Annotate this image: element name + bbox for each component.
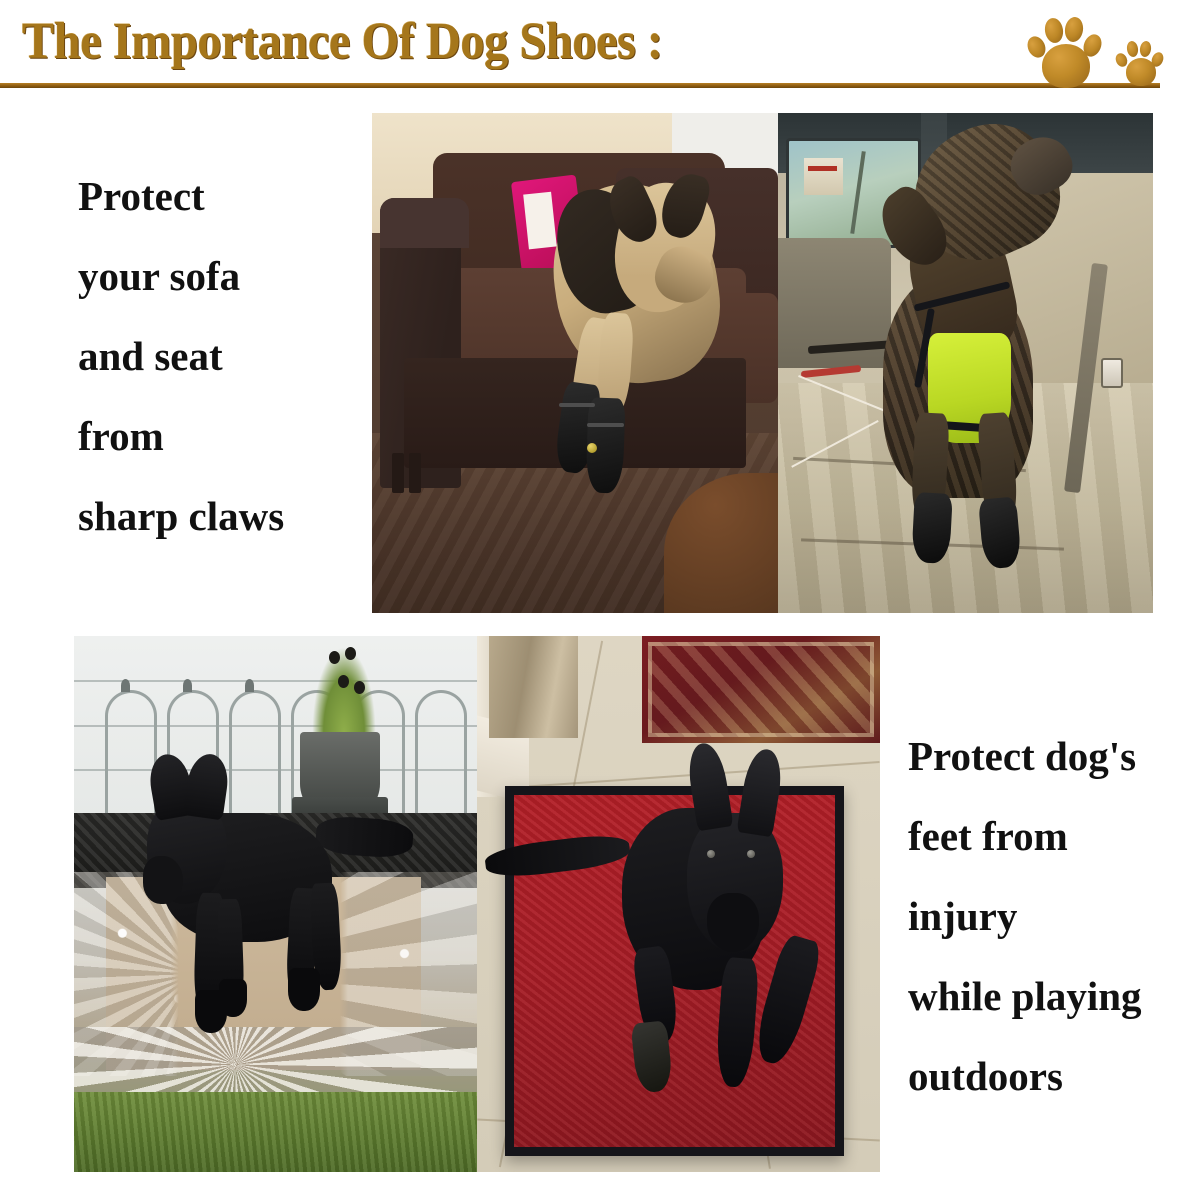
paw-toe [1043, 17, 1065, 45]
protect-feet-caption: Protect dog's feet from injury while pla… [908, 716, 1142, 1116]
paw-print-small-icon [1116, 40, 1166, 86]
paw-toe [1063, 16, 1084, 43]
paw-print-large-icon [1026, 16, 1106, 88]
caption-line: from [78, 396, 284, 476]
dog-boot [219, 979, 247, 1017]
caption-line: outdoors [908, 1036, 1142, 1116]
paw-toe [1126, 40, 1139, 58]
photo-dog-on-sofa [372, 113, 778, 613]
window-sign [804, 158, 843, 195]
boot-strap [587, 423, 624, 427]
garden-fence [82, 690, 469, 829]
caption-line: feet from [908, 796, 1142, 876]
poster-canvas: The Importance Of Dog Shoes : Protect yo… [0, 0, 1200, 1200]
caption-line: Protect [78, 156, 284, 236]
fence-arch [105, 690, 157, 829]
pillow-tag [523, 192, 557, 250]
sofa-leg [409, 453, 421, 493]
paw-pad [1126, 58, 1156, 86]
photo-dog-on-red-mat [477, 636, 880, 1172]
fence-arch [415, 690, 467, 829]
caption-line: your sofa [78, 236, 284, 316]
boot-strap [559, 403, 596, 407]
dog-snout [143, 856, 183, 904]
grass-lawn [74, 1092, 477, 1172]
fence-arch [229, 690, 281, 829]
page-title: The Importance Of Dog Shoes : [22, 14, 663, 70]
fence-spike [183, 679, 192, 692]
paw-prints-group [1020, 12, 1180, 84]
fence-spike [245, 679, 254, 692]
caption-line: injury [908, 876, 1142, 956]
siding-line [74, 680, 477, 682]
photo-dog-in-car [778, 113, 1153, 613]
bottom-photo-group [74, 636, 880, 1172]
oriental-rug [642, 636, 880, 743]
protect-sofa-caption: Protect your sofa and seat from sharp cl… [78, 156, 284, 556]
sofa-leg [392, 453, 404, 493]
dog-boot [288, 968, 320, 1011]
paw-toe [1139, 40, 1152, 58]
top-photo-group [372, 113, 1153, 613]
plant-flower [338, 675, 349, 688]
caption-line: while playing [908, 956, 1142, 1036]
caption-line: Protect dog's [908, 716, 1142, 796]
caption-line: and seat [78, 316, 284, 396]
fence-spike [121, 679, 130, 692]
curtain [489, 636, 578, 738]
caption-line: sharp claws [78, 476, 284, 556]
header-divider [0, 83, 1160, 88]
paw-pad [1042, 44, 1090, 88]
seat-belt-buckle [1101, 358, 1123, 388]
photo-dog-outdoors [74, 636, 477, 1172]
plant-flower [329, 651, 340, 664]
dog-snout [707, 893, 759, 952]
plant-flower [354, 681, 365, 694]
window-post [850, 152, 866, 235]
sofa-arm-top [380, 198, 469, 248]
plant-flower [345, 647, 356, 660]
